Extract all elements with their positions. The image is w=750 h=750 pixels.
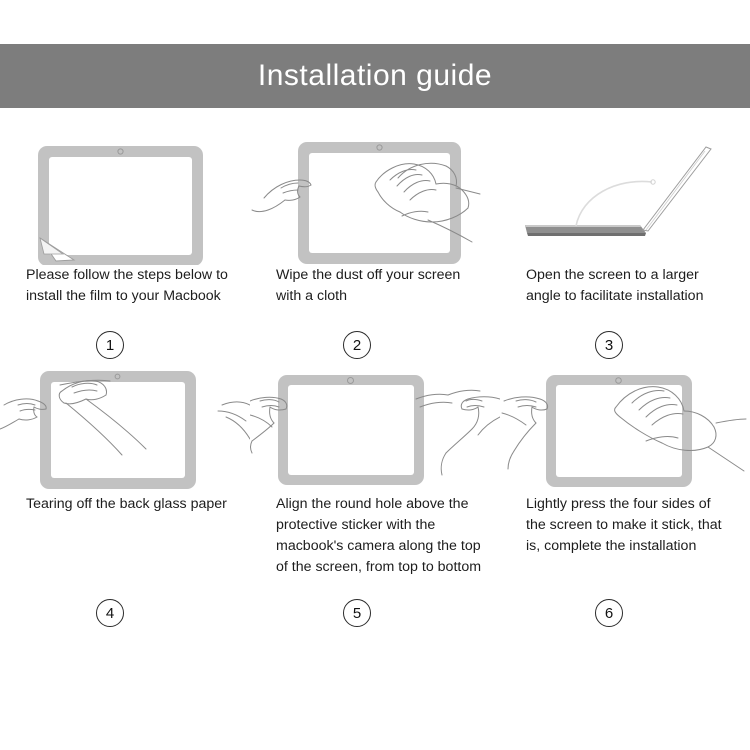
step-number-badge-6: 6 — [595, 599, 623, 627]
step-caption-1: Please follow the steps below to install… — [0, 265, 250, 331]
step-number-badge-5: 5 — [343, 599, 371, 627]
header-band: Installation guide — [0, 44, 750, 108]
illustration-step-4 — [0, 359, 250, 494]
step-cell-4: Tearing off the back glass paper 4 — [0, 359, 250, 627]
illustration-step-1 — [0, 130, 250, 265]
step-badge-wrap-1: 1 — [0, 331, 250, 359]
step-badge-wrap-3: 3 — [500, 331, 750, 359]
step-cell-6: Lightly press the four sides of the scre… — [500, 359, 750, 627]
step-caption-3: Open the screen to a larger angle to fac… — [500, 265, 750, 331]
step-cell-3: Open the screen to a larger angle to fac… — [500, 130, 750, 359]
step-badge-wrap-2: 2 — [250, 331, 500, 359]
step-number-badge-3: 3 — [595, 331, 623, 359]
page-title: Installation guide — [258, 61, 492, 91]
step-number-badge-1: 1 — [96, 331, 124, 359]
step-cell-2: Wipe the dust off your screen with a clo… — [250, 130, 500, 359]
illustration-step-6 — [500, 359, 750, 494]
step-caption-2: Wipe the dust off your screen with a clo… — [250, 265, 500, 331]
illustration-step-5 — [250, 359, 500, 494]
step-badge-wrap-6: 6 — [500, 599, 750, 627]
illustration-step-2 — [250, 130, 500, 265]
steps-grid: Please follow the steps below to install… — [0, 130, 750, 627]
step-badge-wrap-5: 5 — [250, 599, 500, 627]
step-number-badge-4: 4 — [96, 599, 124, 627]
illustration-step-3 — [500, 130, 750, 265]
step-caption-5: Align the round hole above the protectiv… — [250, 494, 500, 599]
step-badge-wrap-4: 4 — [0, 599, 250, 627]
step-number-badge-2: 2 — [343, 331, 371, 359]
step-caption-4: Tearing off the back glass paper — [0, 494, 250, 599]
step-cell-1: Please follow the steps below to install… — [0, 130, 250, 359]
step-cell-5: Align the round hole above the protectiv… — [250, 359, 500, 627]
step-caption-6: Lightly press the four sides of the scre… — [500, 494, 750, 599]
